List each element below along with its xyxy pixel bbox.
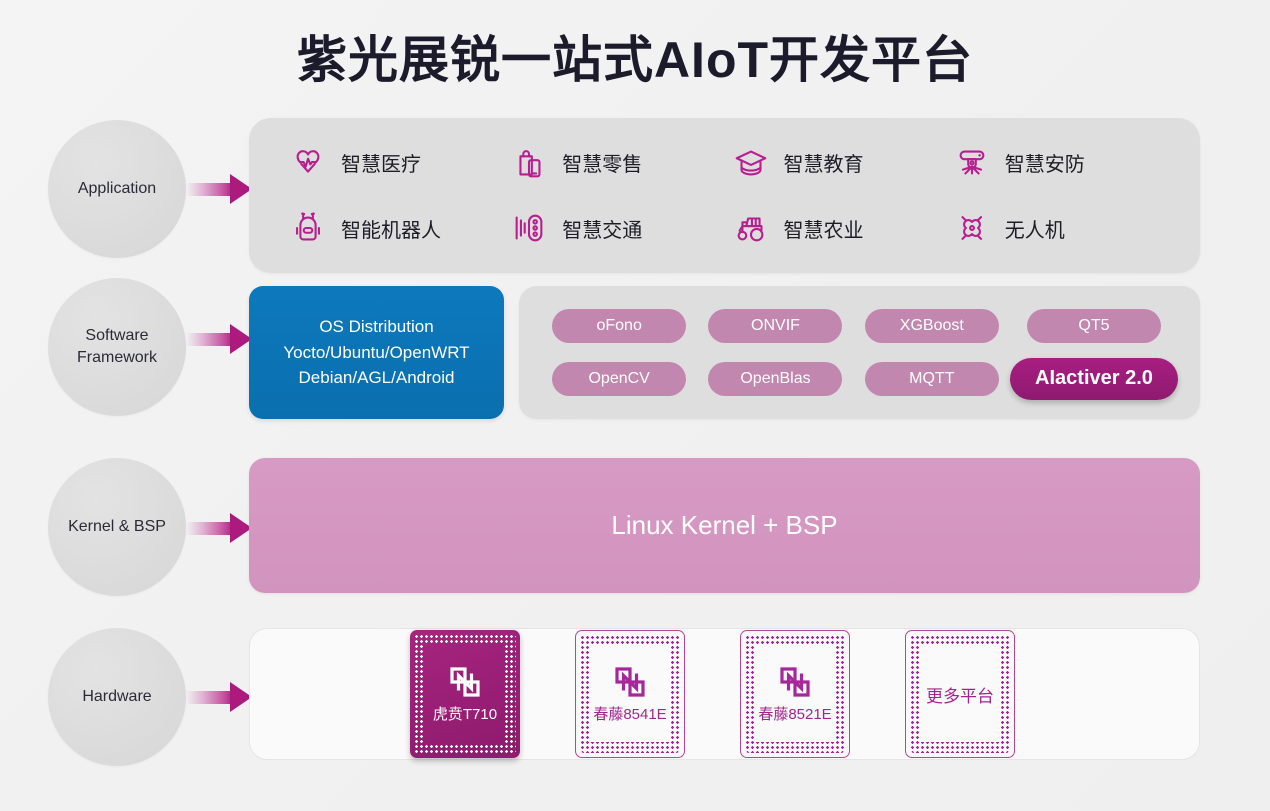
heart-pulse-icon	[289, 144, 327, 182]
arrow-kernel-bsp	[186, 513, 252, 543]
app-item-smart-retail[interactable]: 智慧零售	[510, 144, 731, 182]
chip-name: 春藤8541E	[593, 703, 666, 724]
graduation-cap-icon	[732, 144, 770, 182]
library-pill-onvif[interactable]: ONVIF	[708, 309, 842, 343]
app-item-smart-healthcare[interactable]: 智慧医疗	[289, 144, 510, 182]
chip-name: 虎贲T710	[433, 703, 497, 724]
layer-label-kernel-bsp[interactable]: Kernel & BSP	[48, 458, 186, 596]
linux-kernel-bsp-band[interactable]: Linux Kernel + BSP	[249, 458, 1200, 593]
tractor-icon	[732, 209, 770, 247]
os-line-3: Debian/AGL/Android	[299, 368, 455, 387]
shopping-bag-phone-icon	[510, 144, 548, 182]
layer-label-text: Kernel & BSP	[68, 516, 166, 538]
app-item-label: 智慧零售	[562, 148, 642, 177]
application-panel: 智慧医疗 智慧零售	[249, 118, 1200, 273]
library-panel: oFono ONVIF XGBoost QT5 OpenCV OpenBlas …	[519, 286, 1200, 419]
library-pill-aiactiver[interactable]: AIactiver 2.0	[1010, 358, 1178, 400]
unisoc-logo-icon	[448, 665, 482, 699]
app-item-label: 无人机	[1005, 214, 1065, 243]
app-item-label: 智慧安防	[1005, 148, 1085, 177]
chip-name: 春藤8521E	[758, 703, 831, 724]
robot-icon	[289, 209, 327, 247]
layer-label-text: Application	[78, 178, 156, 200]
drone-icon	[953, 209, 991, 247]
library-pill-mqtt[interactable]: MQTT	[865, 362, 999, 396]
app-item-label: 智慧农业	[784, 214, 864, 243]
library-pill-xgboost[interactable]: XGBoost	[865, 309, 999, 343]
arrow-software-framework	[186, 324, 252, 354]
app-item-label: 智慧教育	[784, 148, 864, 177]
page-title: 紫光展锐一站式AIoT开发平台	[0, 32, 1270, 90]
library-pill-openblas[interactable]: OpenBlas	[708, 362, 842, 396]
app-item-smart-transport[interactable]: 智慧交通	[510, 209, 731, 247]
app-item-label: 智能机器人	[341, 214, 441, 243]
application-grid: 智慧医疗 智慧零售	[249, 118, 1200, 273]
arrow-shaft	[186, 333, 234, 346]
arrow-shaft	[186, 691, 234, 704]
aiot-platform-diagram: 紫光展锐一站式AIoT开发平台 Application	[0, 0, 1270, 811]
layer-label-text: Software Framework	[77, 325, 157, 368]
layer-label-application[interactable]: Application	[48, 120, 186, 258]
chip-name: 更多平台	[926, 682, 994, 707]
os-distribution-text: OS Distribution Yocto/Ubuntu/OpenWRT Deb…	[283, 314, 469, 391]
hardware-chip-row: 虎贲T710 春藤8541E	[250, 629, 1199, 759]
library-pill-qt5[interactable]: QT5	[1027, 309, 1161, 343]
hardware-chip-t710[interactable]: 虎贲T710	[410, 630, 520, 758]
unisoc-logo-icon	[778, 665, 812, 699]
kernel-bsp-layer-row: Kernel & BSP Linux Kernel + BSP	[0, 458, 1270, 600]
app-item-label: 智慧医疗	[341, 148, 421, 177]
layer-label-text: Hardware	[82, 686, 151, 708]
app-item-drone[interactable]: 无人机	[953, 209, 1174, 247]
unisoc-logo-icon	[613, 665, 647, 699]
os-distribution-box[interactable]: OS Distribution Yocto/Ubuntu/OpenWRT Deb…	[249, 286, 504, 419]
app-item-label: 智慧交通	[562, 214, 642, 243]
hardware-chip-more-platforms[interactable]: 更多平台	[905, 630, 1015, 758]
arrow-shaft	[186, 522, 234, 535]
app-item-smart-robot[interactable]: 智能机器人	[289, 209, 510, 247]
arrow-hardware	[186, 682, 252, 712]
os-line-2: Yocto/Ubuntu/OpenWRT	[283, 343, 469, 362]
arrow-application	[186, 174, 252, 204]
security-camera-icon	[953, 144, 991, 182]
arrow-shaft	[186, 183, 234, 196]
os-line-1: OS Distribution	[319, 317, 433, 336]
app-item-smart-agriculture[interactable]: 智慧农业	[732, 209, 953, 247]
traffic-light-icon	[510, 209, 548, 247]
app-item-smart-education[interactable]: 智慧教育	[732, 144, 953, 182]
hardware-panel: 虎贲T710 春藤8541E	[249, 628, 1200, 760]
hardware-chip-8541e[interactable]: 春藤8541E	[575, 630, 685, 758]
library-grid: oFono ONVIF XGBoost QT5 OpenCV OpenBlas …	[519, 286, 1200, 419]
library-pill-opencv[interactable]: OpenCV	[552, 362, 686, 396]
hardware-chip-8521e[interactable]: 春藤8521E	[740, 630, 850, 758]
application-layer-row: Application 智慧医疗	[0, 118, 1270, 276]
library-pill-ofono[interactable]: oFono	[552, 309, 686, 343]
layer-label-hardware[interactable]: Hardware	[48, 628, 186, 766]
software-framework-layer-row: Software Framework OS Distribution Yocto…	[0, 284, 1270, 424]
linux-kernel-bsp-label: Linux Kernel + BSP	[611, 510, 837, 541]
layer-label-line1: Software	[85, 327, 148, 344]
hardware-layer-row: Hardware 虎贲T710	[0, 628, 1270, 768]
layer-label-line2: Framework	[77, 349, 157, 366]
app-item-smart-security[interactable]: 智慧安防	[953, 144, 1174, 182]
layer-label-software-framework[interactable]: Software Framework	[48, 278, 186, 416]
